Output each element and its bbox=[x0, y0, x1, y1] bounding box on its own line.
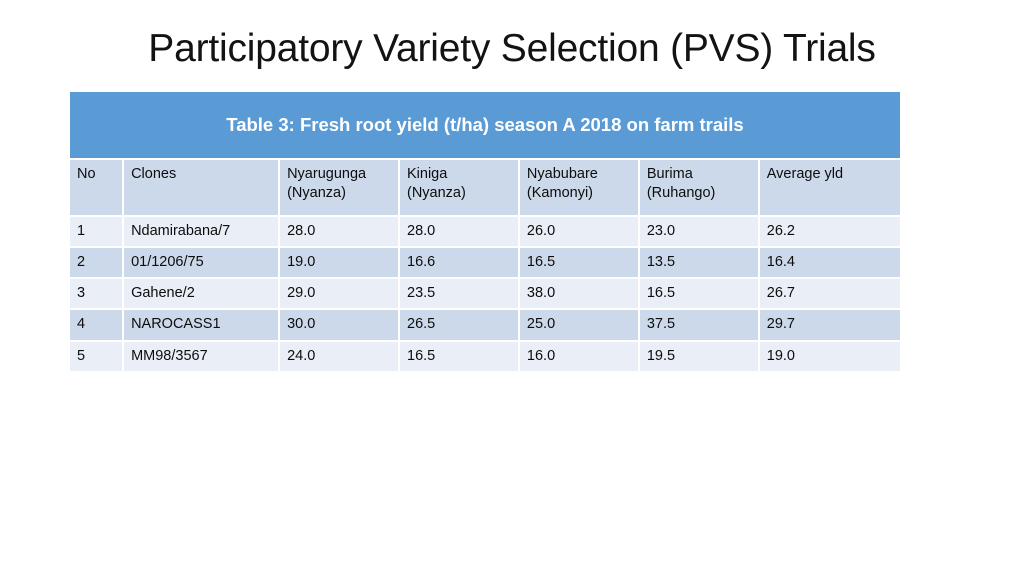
cell-nyabubare: 16.5 bbox=[519, 247, 639, 278]
fresh-root-yield-table: No Clones Nyarugunga (Nyanza) Kiniga (Ny… bbox=[70, 160, 900, 373]
table-caption-banner: Table 3: Fresh root yield (t/ha) season … bbox=[70, 92, 900, 158]
cell-average: 26.2 bbox=[759, 216, 900, 247]
cell-average: 16.4 bbox=[759, 247, 900, 278]
header-line-1: Nyabubare bbox=[527, 166, 598, 182]
header-line-2: (Kamonyi) bbox=[527, 185, 593, 201]
table-row: 3 Gahene/2 29.0 23.5 38.0 16.5 26.7 bbox=[70, 278, 900, 309]
header-line-1: Clones bbox=[131, 166, 176, 182]
cell-burima: 16.5 bbox=[639, 278, 759, 309]
header-line-1: Burima bbox=[647, 166, 693, 182]
column-header-kiniga: Kiniga (Nyanza) bbox=[399, 160, 519, 216]
table-row: 5 MM98/3567 24.0 16.5 16.0 19.5 19.0 bbox=[70, 341, 900, 372]
column-header-average-yld: Average yld bbox=[759, 160, 900, 216]
pvs-table-container: Table 3: Fresh root yield (t/ha) season … bbox=[70, 92, 900, 373]
cell-burima: 23.0 bbox=[639, 216, 759, 247]
page-title: Participatory Variety Selection (PVS) Tr… bbox=[0, 27, 1024, 71]
cell-kiniga: 28.0 bbox=[399, 216, 519, 247]
header-row: No Clones Nyarugunga (Nyanza) Kiniga (Ny… bbox=[70, 160, 900, 216]
table-row: 4 NAROCASS1 30.0 26.5 25.0 37.5 29.7 bbox=[70, 309, 900, 340]
cell-no: 1 bbox=[70, 216, 123, 247]
cell-nyarugunga: 28.0 bbox=[279, 216, 399, 247]
header-line-2: (Nyanza) bbox=[287, 185, 346, 201]
cell-nyarugunga: 19.0 bbox=[279, 247, 399, 278]
cell-nyabubare: 38.0 bbox=[519, 278, 639, 309]
header-line-1: No bbox=[77, 166, 96, 182]
cell-burima: 37.5 bbox=[639, 309, 759, 340]
table-body: 1 Ndamirabana/7 28.0 28.0 26.0 23.0 26.2… bbox=[70, 216, 900, 372]
cell-nyabubare: 25.0 bbox=[519, 309, 639, 340]
cell-kiniga: 16.5 bbox=[399, 341, 519, 372]
header-line-2: (Nyanza) bbox=[407, 185, 466, 201]
cell-burima: 13.5 bbox=[639, 247, 759, 278]
cell-nyarugunga: 30.0 bbox=[279, 309, 399, 340]
cell-nyarugunga: 24.0 bbox=[279, 341, 399, 372]
cell-kiniga: 23.5 bbox=[399, 278, 519, 309]
column-header-nyarugunga: Nyarugunga (Nyanza) bbox=[279, 160, 399, 216]
cell-nyabubare: 26.0 bbox=[519, 216, 639, 247]
table-caption-text: Table 3: Fresh root yield (t/ha) season … bbox=[226, 114, 743, 136]
cell-burima: 19.5 bbox=[639, 341, 759, 372]
cell-nyabubare: 16.0 bbox=[519, 341, 639, 372]
cell-clone: Ndamirabana/7 bbox=[123, 216, 279, 247]
cell-clone: 01/1206/75 bbox=[123, 247, 279, 278]
table-row: 1 Ndamirabana/7 28.0 28.0 26.0 23.0 26.2 bbox=[70, 216, 900, 247]
header-line-2: (Ruhango) bbox=[647, 185, 716, 201]
cell-clone: Gahene/2 bbox=[123, 278, 279, 309]
column-header-clones: Clones bbox=[123, 160, 279, 216]
cell-kiniga: 26.5 bbox=[399, 309, 519, 340]
cell-no: 2 bbox=[70, 247, 123, 278]
header-line-1: Nyarugunga bbox=[287, 166, 366, 182]
cell-average: 26.7 bbox=[759, 278, 900, 309]
table-row: 2 01/1206/75 19.0 16.6 16.5 13.5 16.4 bbox=[70, 247, 900, 278]
header-line-1: Kiniga bbox=[407, 166, 447, 182]
cell-no: 5 bbox=[70, 341, 123, 372]
cell-no: 3 bbox=[70, 278, 123, 309]
column-header-no: No bbox=[70, 160, 123, 216]
cell-clone: MM98/3567 bbox=[123, 341, 279, 372]
table-header: No Clones Nyarugunga (Nyanza) Kiniga (Ny… bbox=[70, 160, 900, 216]
header-line-1: Average yld bbox=[767, 166, 843, 182]
cell-kiniga: 16.6 bbox=[399, 247, 519, 278]
cell-clone: NAROCASS1 bbox=[123, 309, 279, 340]
column-header-nyabubare: Nyabubare (Kamonyi) bbox=[519, 160, 639, 216]
column-header-burima: Burima (Ruhango) bbox=[639, 160, 759, 216]
cell-no: 4 bbox=[70, 309, 123, 340]
cell-average: 29.7 bbox=[759, 309, 900, 340]
cell-nyarugunga: 29.0 bbox=[279, 278, 399, 309]
cell-average: 19.0 bbox=[759, 341, 900, 372]
